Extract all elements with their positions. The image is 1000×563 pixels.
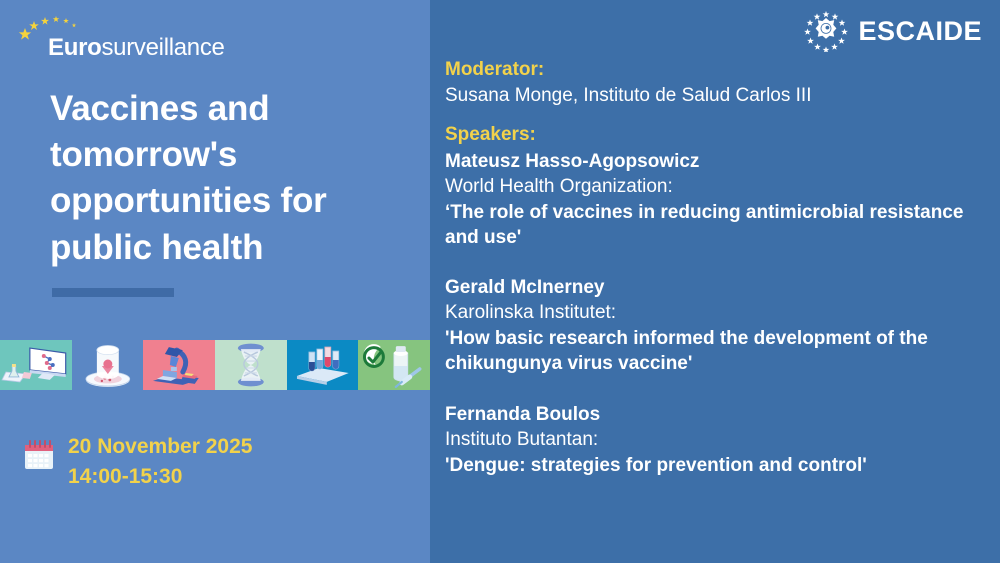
speaker-name: Gerald McInerney	[445, 275, 993, 300]
icon-tile-test-tube-rack	[287, 340, 359, 390]
icon-tile-computer-molecular-analysis	[0, 340, 72, 390]
session-promo-poster: Eurosurveillance Vaccines and tomorrow's…	[0, 0, 1000, 563]
escaide-logo: ESCAIDE	[803, 9, 982, 53]
right-panel: ESCAIDE Moderator: Susana Monge, Institu…	[430, 0, 1000, 563]
brand-name-bold: Euro	[48, 34, 101, 61]
hourglass-dna-icon	[215, 340, 287, 390]
schedule-block: 20 November 2025 14:00-15:30	[22, 432, 252, 492]
title-underline-rule	[52, 288, 174, 297]
brand-name-light: surveillance	[101, 34, 224, 61]
spacer	[445, 250, 993, 275]
speakers-label: Speakers:	[445, 122, 993, 148]
spacer	[445, 109, 993, 122]
test-tube-rack-icon	[287, 340, 359, 390]
moderator-person: Susana Monge, Instituto de Salud Carlos …	[445, 83, 993, 109]
speaker-affiliation: Instituto Butantan:	[445, 427, 993, 453]
speaker-name: Mateusz Hasso-Agopsowicz	[445, 149, 993, 174]
schedule-text: 20 November 2025 14:00-15:30	[68, 432, 252, 492]
event-date: 20 November 2025	[68, 432, 252, 462]
event-time: 14:00-15:30	[68, 462, 252, 492]
icon-tile-petri-dish-sample	[72, 340, 144, 390]
eurosurveillance-logo: Eurosurveillance	[18, 14, 218, 62]
eurosurveillance-wordmark: Eurosurveillance	[48, 36, 225, 60]
moderator-label: Moderator:	[445, 57, 993, 83]
icon-tile-vaccine-vial-syringe	[358, 340, 430, 390]
icon-tile-microscope	[143, 340, 215, 390]
spacer	[445, 377, 993, 402]
icon-tile-hourglass-dna	[215, 340, 287, 390]
session-details: Moderator: Susana Monge, Instituto de Sa…	[445, 57, 993, 478]
page-title: Vaccines and tomorrow's opportunities fo…	[50, 86, 420, 271]
icon-strip	[0, 340, 430, 390]
speaker-entry-3: Fernanda Boulos Instituto Butantan: 'Den…	[445, 402, 993, 478]
speaker-affiliation: Karolinska Institutet:	[445, 300, 993, 326]
speaker-talk-title: 'Dengue: strategies for prevention and c…	[445, 453, 993, 478]
computer-molecular-analysis-icon	[0, 340, 72, 390]
speaker-name: Fernanda Boulos	[445, 402, 993, 427]
speaker-talk-title: ‘The role of vaccines in reducing antimi…	[445, 200, 993, 250]
vaccine-vial-syringe-icon	[358, 340, 430, 390]
escaide-sunburst-stars-icon	[803, 10, 849, 52]
microscope-icon	[143, 340, 215, 390]
speaker-affiliation: World Health Organization:	[445, 174, 993, 200]
left-panel: Eurosurveillance Vaccines and tomorrow's…	[0, 0, 430, 563]
calendar-icon	[22, 438, 56, 472]
speaker-entry-2: Gerald McInerney Karolinska Institutet: …	[445, 275, 993, 376]
petri-dish-sample-icon	[72, 340, 144, 390]
escaide-wordmark: ESCAIDE	[858, 18, 982, 45]
speaker-talk-title: 'How basic research informed the develop…	[445, 326, 993, 376]
speaker-entry-1: Mateusz Hasso-Agopsowicz World Health Or…	[445, 149, 993, 250]
